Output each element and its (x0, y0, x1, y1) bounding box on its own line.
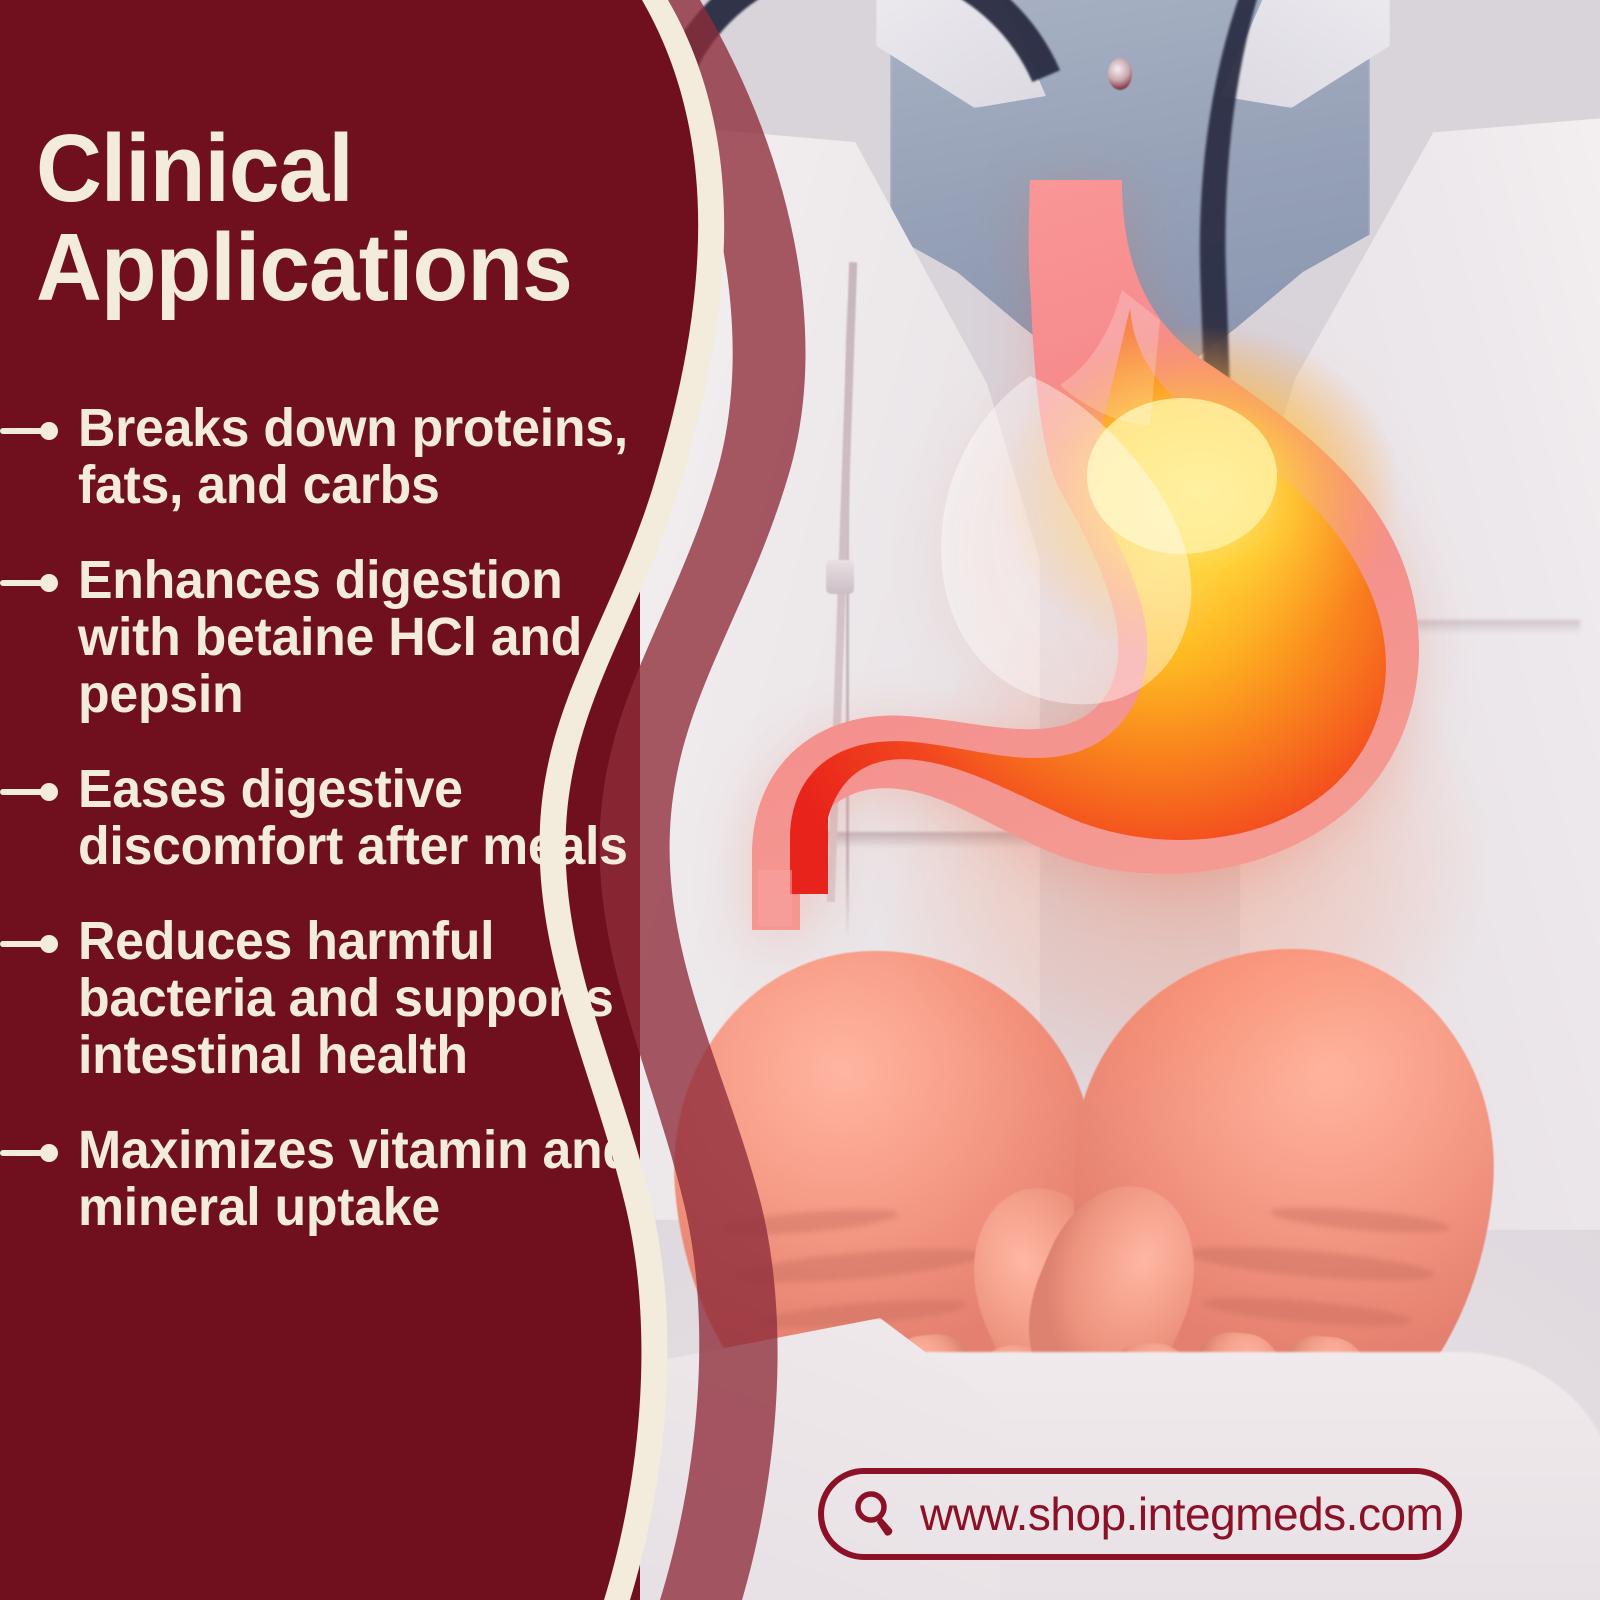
page-title-line-1: Clinical (36, 115, 353, 222)
list-item: Enhances digestion with betaine HCl and … (0, 552, 660, 723)
poster: ClinicalApplications Breaks down protein… (0, 0, 1600, 1600)
website-url-bar[interactable]: www.shop.integmeds.com (818, 1468, 1462, 1560)
list-item: Maximizes vitamin and mineral uptake (0, 1122, 660, 1236)
website-url-text: www.shop.integmeds.com (920, 1491, 1443, 1537)
list-item-label: Breaks down proteins, fats, and carbs (78, 400, 637, 514)
content-panel: ClinicalApplications Breaks down protein… (0, 0, 700, 1600)
bullet-marker-icon (0, 935, 58, 953)
bullet-marker-icon (0, 1144, 58, 1162)
bullet-marker-icon (0, 783, 58, 801)
search-icon (850, 1488, 902, 1540)
list-item-label: Maximizes vitamin and mineral uptake (78, 1122, 637, 1236)
stomach-illustration (730, 170, 1540, 960)
bullet-marker-icon (0, 574, 58, 592)
page-title-line-2: Applications (36, 214, 572, 321)
page-title: ClinicalApplications (36, 120, 644, 318)
doctor-photo (640, 0, 1600, 1600)
list-item-label: Eases digestive discomfort after meals (78, 761, 637, 875)
benefits-list: Breaks down proteins, fats, and carbs En… (0, 400, 660, 1236)
list-item: Reduces harmful bacteria and supports in… (0, 913, 660, 1084)
list-item-label: Enhances digestion with betaine HCl and … (78, 552, 637, 723)
list-item: Eases digestive discomfort after meals (0, 761, 660, 875)
bullet-marker-icon (0, 422, 58, 440)
list-item: Breaks down proteins, fats, and carbs (0, 400, 660, 514)
list-item-label: Reduces harmful bacteria and supports in… (78, 913, 637, 1084)
shirt-button (1108, 58, 1132, 90)
